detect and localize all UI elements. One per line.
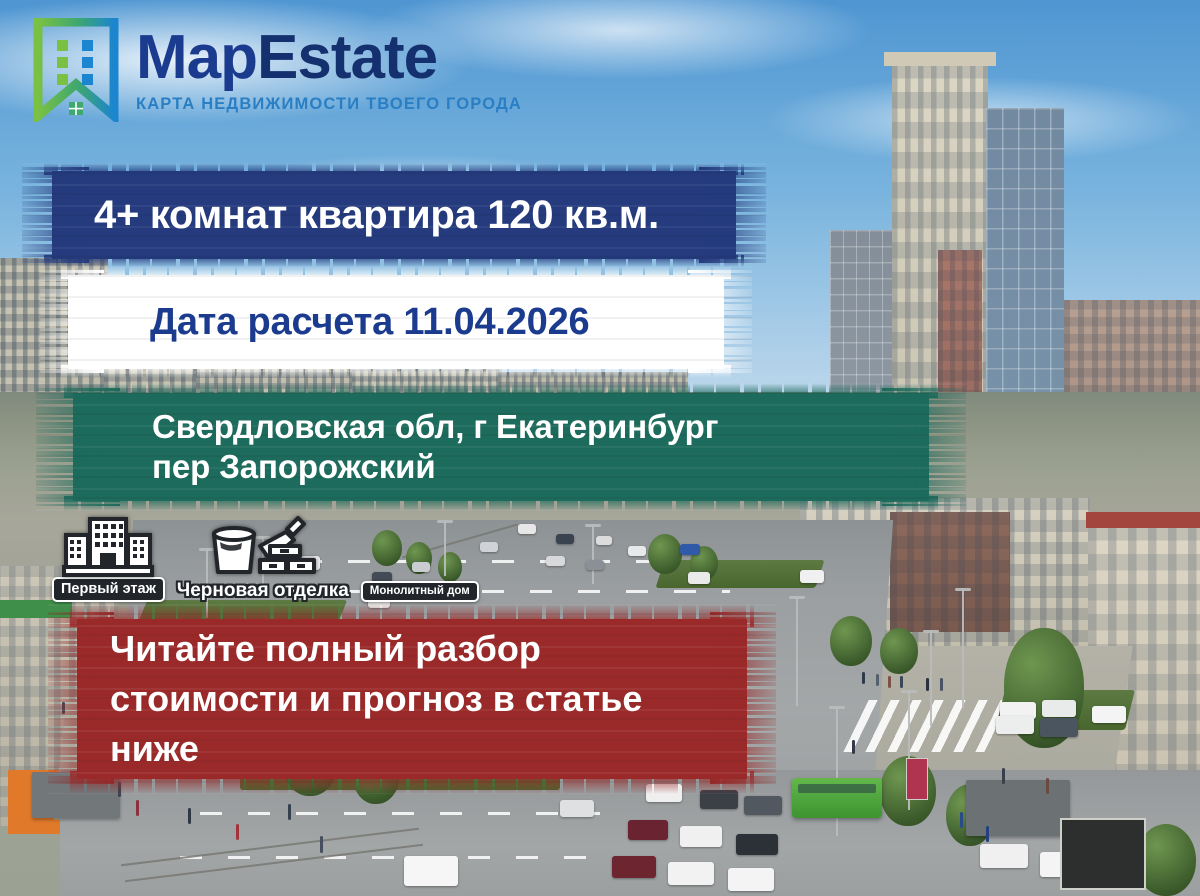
bookmark-building-icon <box>30 18 122 122</box>
pedestrian <box>926 678 929 691</box>
poster-root: MapEstate КАРТА НЕДВИЖИМОСТИ ТВОЕГО ГОРО… <box>0 0 1200 896</box>
car <box>518 524 536 534</box>
pedestrian <box>940 678 943 691</box>
brand-wordmark: MapEstate КАРТА НЕДВИЖИМОСТИ ТВОЕГО ГОРО… <box>136 27 522 113</box>
badge-monolithic-house-label: Монолитный дом <box>361 581 479 602</box>
car <box>586 560 604 570</box>
banner-cta: Читайте полный разбор стоимости и прогно… <box>48 604 776 794</box>
car <box>480 542 498 552</box>
car <box>744 796 782 815</box>
pedestrian <box>188 808 191 824</box>
pedestrian <box>320 836 323 853</box>
banner-cta-text: Читайте полный разбор стоимости и прогно… <box>48 624 776 773</box>
pedestrian <box>288 804 291 820</box>
digital-billboard <box>1060 818 1146 890</box>
car <box>688 572 710 584</box>
banner-calculation-date: Дата расчета 11.04.2026 <box>40 266 752 378</box>
paint-bucket-trowel-bricks-icon <box>208 516 318 582</box>
street-lamp <box>962 588 964 708</box>
building-front-right-brick <box>890 512 1010 632</box>
office-building-icon <box>62 513 154 579</box>
car <box>560 800 594 817</box>
car <box>668 862 714 885</box>
lane-marking <box>180 856 610 859</box>
car <box>800 570 824 583</box>
pedestrian <box>900 676 903 688</box>
brand-tagline: КАРТА НЕДВИЖИМОСТИ ТВОЕГО ГОРОДА <box>136 96 522 113</box>
car <box>680 826 722 847</box>
info-pillar <box>906 758 928 800</box>
banner-rooms-text: 4+ комнат квартира 120 кв.м. <box>22 191 766 240</box>
pedestrian <box>960 812 963 828</box>
car <box>596 536 612 545</box>
pedestrian <box>1002 768 1005 784</box>
pedestrian <box>876 674 879 686</box>
feature-badges: Первый этаж <box>52 513 479 602</box>
badge-first-floor-label: Первый этаж <box>52 577 165 602</box>
brand-name: MapEstate <box>136 27 522 89</box>
tree <box>880 628 918 674</box>
car <box>980 844 1028 868</box>
badge-first-floor: Первый этаж <box>52 513 165 602</box>
pedestrian <box>1046 778 1049 794</box>
bus-stop-shelter <box>966 780 1070 836</box>
banner-rooms: 4+ комнат квартира 120 кв.м. <box>22 163 766 267</box>
car <box>736 834 778 855</box>
car <box>612 856 656 878</box>
pedestrian <box>986 826 989 842</box>
street-lamp <box>592 524 594 584</box>
pedestrian <box>862 672 865 684</box>
building-tower-roof-cap <box>884 52 996 66</box>
brand-name-map: Map <box>136 23 257 92</box>
city-bus <box>792 778 882 818</box>
pedestrian <box>236 824 239 840</box>
badge-monolithic-house: Монолитный дом <box>361 583 479 602</box>
tree <box>830 616 872 666</box>
pedestrian <box>888 676 891 688</box>
banner-address: Свердловская обл, г Екатеринбург пер Зап… <box>36 383 966 511</box>
brand-name-estate: Estate <box>257 23 437 92</box>
car <box>628 820 668 840</box>
pedestrian <box>136 800 139 816</box>
car <box>1040 718 1078 737</box>
banner-date-text: Дата расчета 11.04.2026 <box>40 299 752 345</box>
pedestrian <box>852 740 855 754</box>
car <box>1092 706 1126 723</box>
badge-rough-finish: Черновая отделка <box>173 516 353 602</box>
street-lamp <box>930 630 932 726</box>
car <box>996 716 1034 734</box>
badge-rough-finish-label: Черновая отделка <box>173 580 353 602</box>
street-lamp <box>796 596 798 706</box>
car <box>1042 700 1076 717</box>
car <box>680 544 700 555</box>
car <box>556 534 574 544</box>
tree <box>648 534 682 574</box>
truck <box>404 856 458 886</box>
building-corner-roof <box>1086 512 1200 528</box>
banner-address-text: Свердловская обл, г Екатеринбург пер Зап… <box>36 407 966 488</box>
car <box>628 546 646 556</box>
car <box>546 556 565 566</box>
brand-logo[interactable]: MapEstate КАРТА НЕДВИЖИМОСТИ ТВОЕГО ГОРО… <box>30 18 522 122</box>
lane-marking <box>200 812 600 815</box>
car <box>728 868 774 891</box>
